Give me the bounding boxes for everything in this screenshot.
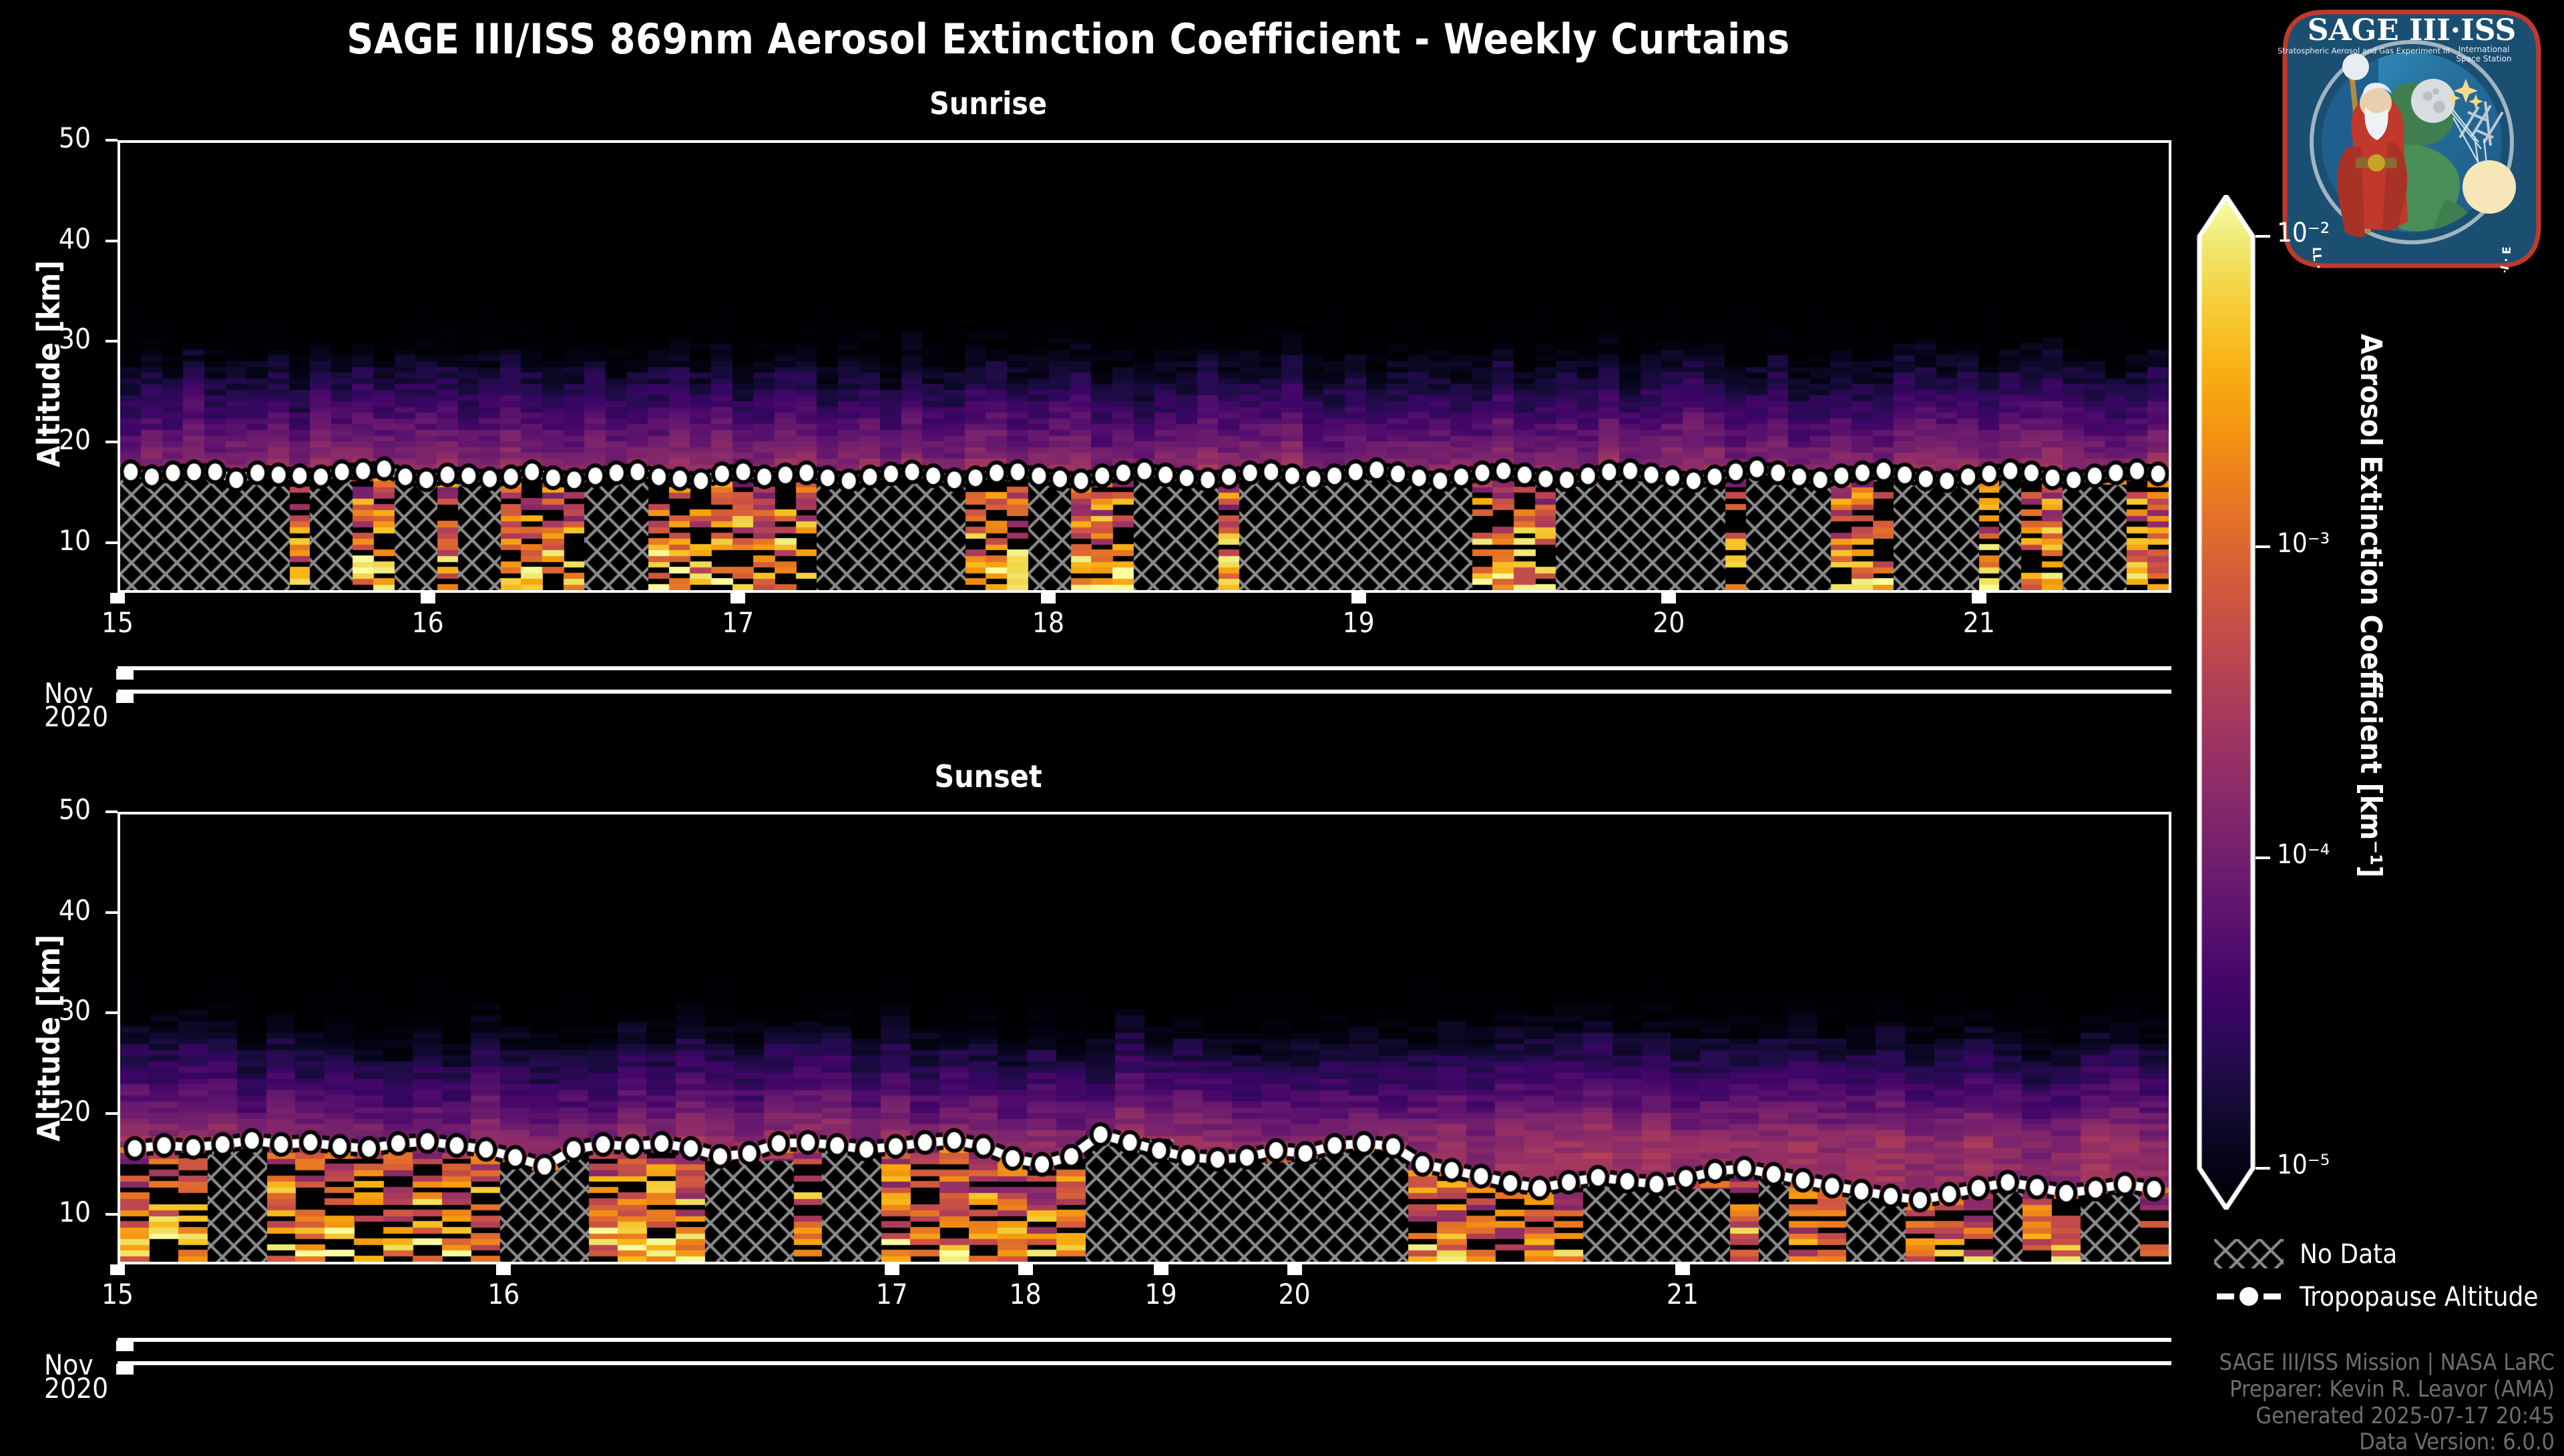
legend-item-tropopause[interactable]: Tropopause Altitude: [2214, 1276, 2561, 1319]
x-tick-mark: [1018, 1264, 1033, 1275]
date-level-tick: [116, 692, 134, 703]
date-level-label-2020: 2020: [44, 700, 108, 733]
x-tick-label: 20: [1629, 606, 1709, 639]
x-tick-mark: [1661, 593, 1676, 603]
y-tick-label: 40: [17, 894, 91, 927]
y-tick-mark: [105, 1011, 118, 1014]
date-level-tick: [116, 669, 134, 680]
date-level-line: [118, 690, 2171, 694]
footer-line-preparer: Preparer: Kevin R. Leavor (AMA): [2219, 1377, 2555, 1403]
y-tick-mark: [105, 1112, 118, 1115]
x-tick-label: 17: [698, 606, 778, 639]
x-tick-label: 18: [986, 1278, 1066, 1310]
date-level-line: [118, 666, 2171, 670]
plot-area-sunrise[interactable]: [118, 140, 2171, 593]
footer-line-version: Data Version: 6.0.0: [2219, 1429, 2555, 1456]
x-tick-label: 21: [1939, 606, 2019, 639]
y-tick-label: 10: [17, 524, 91, 557]
legend-item-no-data[interactable]: No Data: [2214, 1234, 2561, 1276]
panel-title-sunrise: Sunrise: [788, 85, 1189, 122]
x-tick-mark: [1972, 593, 1986, 603]
colorbar-gradient: [2195, 195, 2257, 1210]
y-tick-mark: [105, 541, 118, 544]
x-tick-mark: [1041, 593, 1056, 603]
x-tick-mark: [1351, 593, 1366, 603]
y-tick-mark: [105, 340, 118, 342]
x-tick-label: 15: [77, 1278, 158, 1310]
colorbar-tick-label: 10⁻²: [2277, 218, 2330, 248]
date-level-tick: [116, 1364, 134, 1375]
x-tick-label: 16: [463, 1278, 544, 1310]
colorbar-tick-mark: [2256, 545, 2270, 548]
colorbar-tick-mark: [2256, 1167, 2270, 1170]
y-tick-label: 50: [17, 793, 91, 826]
legend-label-tropopause: Tropopause Altitude: [2300, 1282, 2539, 1312]
x-tick-mark: [496, 1264, 511, 1275]
no-data-hatch-swatch: [2214, 1239, 2284, 1268]
y-tick-label: 10: [17, 1196, 91, 1228]
heatmap-canvas-sunset: [120, 814, 2169, 1262]
logo-title: SAGE III·ISS: [2308, 13, 2517, 47]
y-tick-label: 30: [17, 322, 91, 355]
date-level-label-2020: 2020: [44, 1372, 108, 1405]
colorbar[interactable]: [2195, 195, 2257, 1210]
y-tick-mark: [105, 441, 118, 443]
x-tick-mark: [110, 1264, 125, 1275]
footer-line-generated: Generated 2025-07-17 20:45: [2219, 1403, 2555, 1430]
logo-subtitle-left: Stratospheric Aerosol and Gas Experiment…: [2278, 46, 2450, 55]
x-tick-mark: [1154, 1264, 1168, 1275]
plot-area-sunset[interactable]: [118, 812, 2171, 1264]
legend-label-no-data: No Data: [2300, 1239, 2397, 1270]
x-tick-label: 21: [1643, 1278, 1723, 1310]
y-tick-label: 30: [17, 994, 91, 1027]
logo-subtitle-right-1: International: [2459, 45, 2510, 54]
date-level-line: [118, 1361, 2171, 1365]
legend: No Data Tropopause Altitude: [2214, 1234, 2561, 1319]
y-tick-label: 20: [17, 1095, 91, 1128]
footer-credits: SAGE III/ISS Mission | NASA LaRC Prepare…: [2219, 1350, 2555, 1456]
colorbar-tick-mark: [2256, 235, 2270, 238]
x-tick-mark: [885, 1264, 899, 1275]
panel-title-sunset: Sunset: [788, 758, 1189, 794]
x-tick-mark: [1675, 1264, 1690, 1275]
x-tick-mark: [1287, 1264, 1302, 1275]
colorbar-tick-label: 10⁻³: [2277, 528, 2330, 559]
y-tick-mark: [105, 1213, 118, 1216]
y-tick-label: 50: [17, 122, 91, 154]
colorbar-tick-label: 10⁻⁵: [2277, 1150, 2330, 1180]
y-tick-mark: [105, 911, 118, 914]
page-title: SAGE III/ISS 869nm Aerosol Extinction Co…: [0, 15, 2137, 63]
date-level-line: [118, 1338, 2171, 1342]
x-tick-mark: [421, 593, 435, 603]
y-tick-mark: [105, 810, 118, 813]
x-tick-label: 16: [388, 606, 468, 639]
colorbar-tick-mark: [2256, 857, 2270, 859]
x-tick-label: 20: [1255, 1278, 1335, 1310]
y-tick-mark: [105, 240, 118, 242]
logo-subtitle-right-2: Space Station: [2456, 54, 2511, 63]
y-tick-label: 20: [17, 423, 91, 456]
x-tick-label: 15: [77, 606, 158, 639]
x-tick-label: 17: [852, 1278, 932, 1310]
heatmap-canvas-sunrise: [120, 143, 2169, 590]
x-tick-label: 18: [1008, 606, 1088, 639]
x-tick-mark: [110, 593, 125, 603]
x-tick-label: 19: [1319, 606, 1399, 639]
y-tick-mark: [105, 139, 118, 142]
date-level-tick: [116, 1341, 134, 1351]
colorbar-title: Aerosol Extinction Coefficient [km⁻¹]: [2354, 334, 2388, 878]
x-tick-mark: [730, 593, 745, 603]
tropopause-marker-swatch: [2214, 1282, 2284, 1311]
y-tick-label: 40: [17, 222, 91, 255]
colorbar-tick-label: 10⁻⁴: [2277, 839, 2330, 870]
x-tick-label: 19: [1121, 1278, 1201, 1310]
footer-line-mission: SAGE III/ISS Mission | NASA LaRC: [2219, 1350, 2555, 1377]
